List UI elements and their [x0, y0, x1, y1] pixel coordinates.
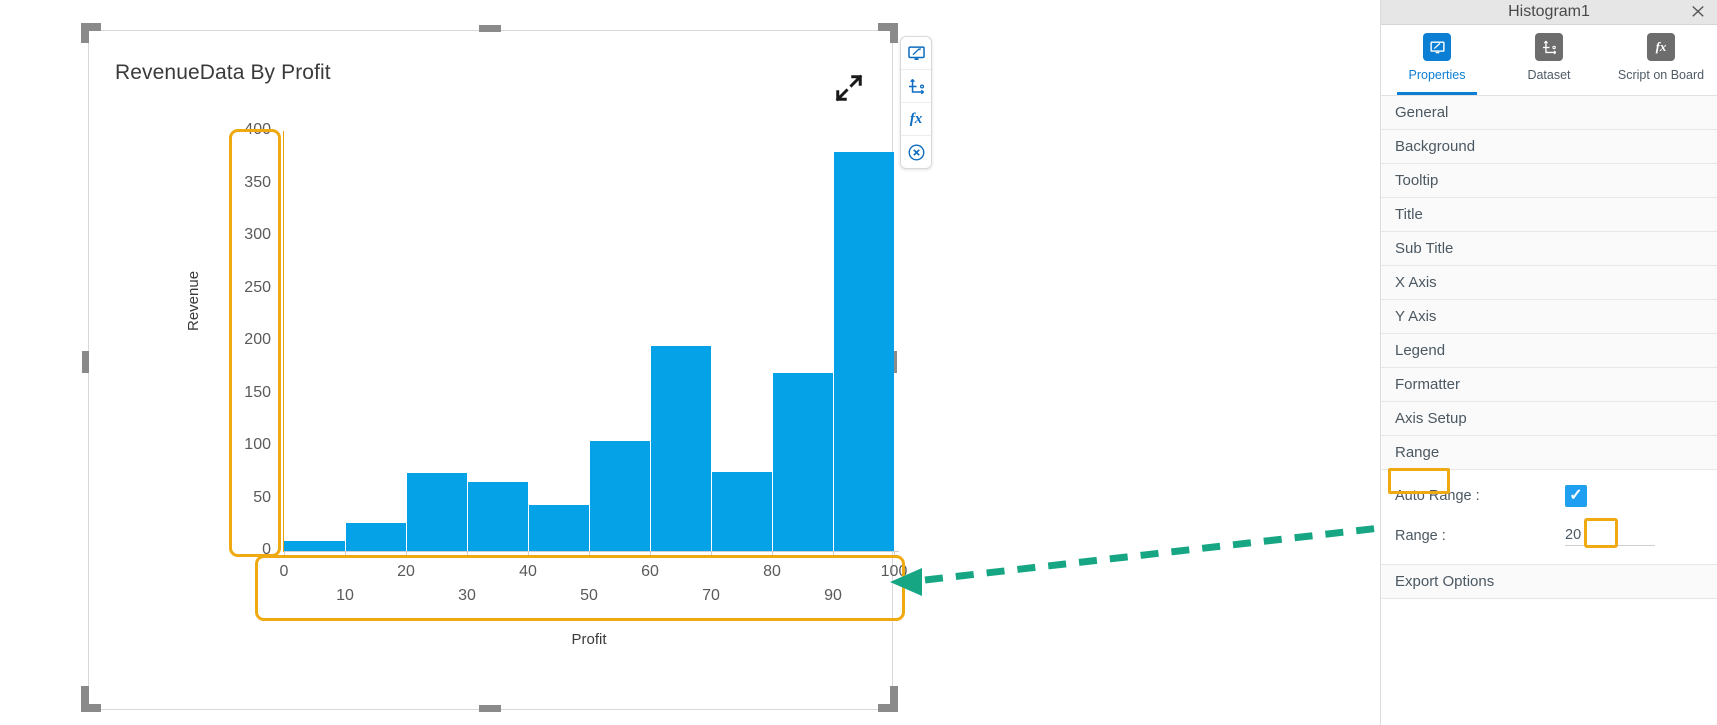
section-y-axis[interactable]: Y Axis [1381, 300, 1717, 334]
tab-dataset[interactable]: Dataset [1493, 25, 1605, 95]
dashed-arrow-annotation [880, 510, 1380, 600]
x-axis-tick-mark [772, 551, 773, 557]
panel-tabs[interactable]: PropertiesDatasetfxScript on Board [1381, 25, 1717, 96]
range-detail-block: Auto Range : ✓ Range : [1381, 470, 1717, 565]
selection-handle-bottom-center[interactable] [479, 705, 501, 712]
y-axis-tick-label: 300 [213, 226, 271, 244]
x-axis-tick-label: 50 [580, 587, 598, 605]
section-tooltip[interactable]: Tooltip [1381, 164, 1717, 198]
section-legend[interactable]: Legend [1381, 334, 1717, 368]
section-range[interactable]: Range [1381, 436, 1717, 470]
selection-handle-top-left-v[interactable] [81, 23, 89, 43]
selection-handle-left-middle[interactable] [82, 351, 89, 373]
formula-icon[interactable]: fx [901, 103, 931, 136]
checkmark-icon: ✓ [1569, 488, 1582, 504]
x-axis-tick-label: 70 [702, 587, 720, 605]
y-axis-tick-label: 400 [213, 121, 271, 139]
section-axis-setup-label: Axis Setup [1395, 410, 1467, 427]
panel-sections-list[interactable]: GeneralBackgroundTooltipTitleSub TitleX … [1381, 96, 1717, 470]
x-axis-tick-mark [833, 551, 834, 557]
x-axis-tick-mark [467, 551, 468, 557]
x-axis-tick-label: 90 [824, 587, 842, 605]
x-axis-tick-label: 60 [641, 563, 659, 581]
x-axis-title: Profit [284, 631, 894, 648]
histogram-bar[interactable] [833, 152, 894, 551]
edit-on-screen-icon[interactable] [901, 37, 931, 70]
selection-handle-bottom-right-v[interactable] [890, 686, 898, 706]
auto-range-label: Auto Range : [1395, 488, 1565, 504]
y-axis-tick-labels: 400350300250200150100500 [209, 131, 271, 561]
x-axis-tick-mark [406, 551, 407, 557]
histogram-bar[interactable] [467, 482, 528, 551]
axis-setup-icon[interactable] [901, 70, 931, 103]
y-axis-tick-label: 200 [213, 331, 271, 349]
y-axis-tick-label: 100 [213, 436, 271, 454]
section-general-label: General [1395, 104, 1448, 121]
histogram-bar[interactable] [711, 472, 772, 551]
auto-range-row[interactable]: Auto Range : ✓ [1381, 480, 1717, 512]
fx-icon: fx [1647, 33, 1675, 61]
histogram-bar[interactable] [345, 523, 406, 551]
y-axis-tick-label: 150 [213, 384, 271, 402]
auto-range-checkbox[interactable]: ✓ [1565, 485, 1587, 507]
tab-properties[interactable]: Properties [1381, 25, 1493, 95]
histogram-bar[interactable] [284, 541, 345, 552]
panel-header: Histogram1 [1381, 0, 1717, 25]
selection-handle-top-right-v[interactable] [890, 23, 898, 43]
section-legend-label: Legend [1395, 342, 1445, 359]
histogram-bar[interactable] [406, 473, 467, 551]
close-icon[interactable] [1689, 2, 1707, 25]
x-axis-tick-mark [284, 551, 285, 557]
expand-diagonal-icon[interactable] [834, 73, 864, 103]
x-axis-tick-mark [650, 551, 651, 557]
section-background[interactable]: Background [1381, 130, 1717, 164]
range-value-row[interactable]: Range : [1381, 520, 1717, 552]
tab-label: Script on Board [1618, 68, 1704, 82]
plot-area[interactable] [284, 131, 894, 551]
y-axis-tick-label: 0 [213, 541, 271, 559]
section-x-axis-label: X Axis [1395, 274, 1437, 291]
section-tooltip-label: Tooltip [1395, 172, 1438, 189]
selection-handle-bottom-left-v[interactable] [81, 686, 89, 706]
x-axis-tick-mark [894, 551, 895, 557]
section-export-options-label: Export Options [1395, 573, 1494, 590]
chart-mini-toolbar[interactable]: fx [900, 36, 932, 169]
selection-handle-top-center[interactable] [479, 25, 501, 32]
section-axis-setup[interactable]: Axis Setup [1381, 402, 1717, 436]
tab-script-on-board[interactable]: fxScript on Board [1605, 25, 1717, 95]
section-formatter[interactable]: Formatter [1381, 368, 1717, 402]
section-range-label: Range [1395, 444, 1439, 461]
close-widget-icon[interactable] [901, 136, 931, 168]
x-axis-tick-label: 20 [397, 563, 415, 581]
x-axis-line [284, 551, 899, 552]
y-axis-tick-label: 350 [213, 174, 271, 192]
x-axis-tick-mark [589, 551, 590, 557]
histogram-bar[interactable] [772, 373, 833, 552]
y-axis-tick-label: 250 [213, 279, 271, 297]
x-axis-tick-label: 40 [519, 563, 537, 581]
x-axis-tick-label: 100 [881, 563, 908, 581]
board-canvas: RevenueData By Profit Revenue 4003503002… [0, 0, 1380, 725]
section-y-axis-label: Y Axis [1395, 308, 1436, 325]
histogram-bar[interactable] [589, 441, 650, 551]
x-axis-tick-label: 0 [280, 563, 289, 581]
tab-label: Properties [1409, 68, 1466, 82]
section-background-label: Background [1395, 138, 1475, 155]
properties-panel: Histogram1 PropertiesDatasetfxScript on … [1380, 0, 1717, 725]
chart-widget[interactable]: RevenueData By Profit Revenue 4003503002… [88, 30, 893, 710]
tab-label: Dataset [1527, 68, 1570, 82]
x-axis-tick-mark [528, 551, 529, 557]
x-axis-tick-label: 10 [336, 587, 354, 605]
section-export-options[interactable]: Export Options [1381, 565, 1717, 599]
section-title[interactable]: Title [1381, 198, 1717, 232]
x-axis-tick-label: 30 [458, 587, 476, 605]
histogram-bar[interactable] [650, 346, 711, 551]
section-general[interactable]: General [1381, 96, 1717, 130]
chart-title: RevenueData By Profit [115, 61, 331, 85]
section-formatter-label: Formatter [1395, 376, 1460, 393]
section-sub-title-label: Sub Title [1395, 240, 1453, 257]
panel-title: Histogram1 [1508, 3, 1590, 21]
x-axis-tick-mark [711, 551, 712, 557]
histogram-bar[interactable] [528, 505, 589, 551]
x-axis-tick-label: 80 [763, 563, 781, 581]
section-title-label: Title [1395, 206, 1423, 223]
y-axis-tick-label: 50 [213, 489, 271, 507]
section-sub-title[interactable]: Sub Title [1381, 232, 1717, 266]
x-axis-tick-mark [345, 551, 346, 557]
y-axis-title: Revenue [185, 271, 202, 331]
section-x-axis[interactable]: X Axis [1381, 266, 1717, 300]
range-input[interactable] [1565, 527, 1655, 546]
properties-icon [1423, 33, 1451, 61]
range-label: Range : [1395, 528, 1565, 544]
dataset-axis-icon [1535, 33, 1563, 61]
